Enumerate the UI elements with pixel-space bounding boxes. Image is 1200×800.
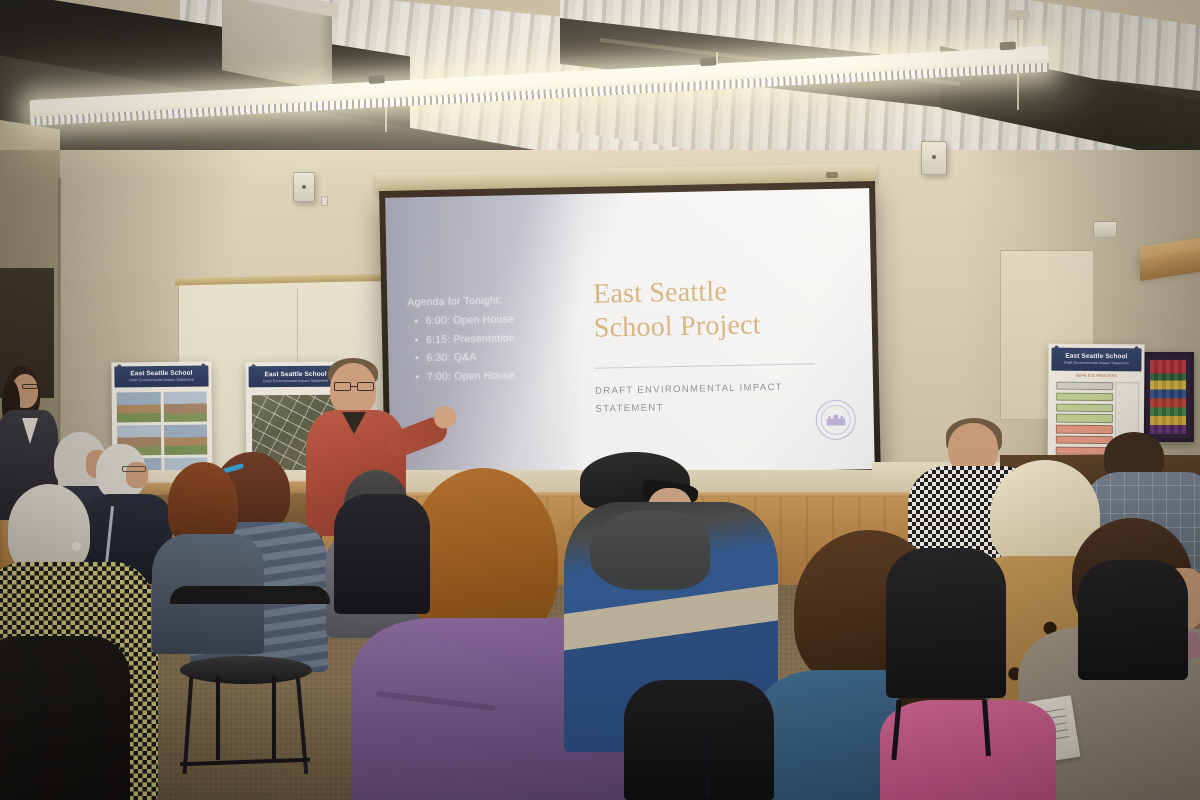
stacking-chair[interactable] xyxy=(170,586,330,604)
meeting-room-photo: Agenda for Tonight: 6:00: Open House 6:1… xyxy=(0,0,1200,800)
wall-speaker-right xyxy=(921,141,947,175)
slide-divider-rule xyxy=(595,364,815,369)
poster-photo xyxy=(117,392,161,423)
flow-step xyxy=(1056,414,1114,423)
quilt-checks xyxy=(1150,360,1186,434)
torso xyxy=(0,636,130,800)
attendee-dark-jacket xyxy=(0,636,120,800)
glasses-icon xyxy=(122,466,146,472)
torso xyxy=(880,700,1056,800)
stacking-chair[interactable] xyxy=(1078,560,1188,680)
stacking-chair[interactable] xyxy=(334,494,430,614)
staff-glasses-icon xyxy=(22,384,38,389)
wall-mounted-box xyxy=(1093,221,1117,238)
seal-crown-glyph xyxy=(826,414,845,425)
poster-photo xyxy=(163,391,207,422)
chair-seat[interactable] xyxy=(180,656,312,684)
light-clip xyxy=(369,75,385,84)
flow-step xyxy=(1056,392,1114,401)
framed-quilt-artwork xyxy=(1142,352,1194,442)
chair-leg xyxy=(216,676,220,760)
projector-screen: Agenda for Tonight: 6:00: Open House 6:1… xyxy=(379,181,881,489)
speaker-dot xyxy=(932,155,936,159)
speaker-dot xyxy=(302,185,306,189)
flow-step xyxy=(1056,403,1114,412)
slide-agenda-item: 7:00: Open House xyxy=(427,364,589,386)
poster-title: East Seattle School xyxy=(1065,353,1127,361)
poster-subtitle: Draft Environmental Impact Statement xyxy=(129,378,194,383)
light-clip xyxy=(1000,41,1016,50)
earring xyxy=(72,542,81,551)
presenter-glasses-icon xyxy=(334,382,374,391)
wall-speaker-left xyxy=(293,172,315,202)
slide-title: East Seattle School Project xyxy=(593,273,846,346)
poster-section-label: SEPA EIS PROCESS xyxy=(1048,373,1144,379)
attendee-red-hair-left xyxy=(158,462,258,632)
screen-pull-knob[interactable] xyxy=(826,172,838,178)
chair-leg xyxy=(272,676,276,762)
poster-header: East Seattle School Draft Environmental … xyxy=(1051,348,1141,371)
poster-subtitle: Draft Environmental Impact Statement xyxy=(1064,361,1129,366)
wall-switch-plate[interactable] xyxy=(321,196,328,206)
light-hanger-plate xyxy=(1008,10,1030,20)
poster-photo xyxy=(163,424,207,455)
stacking-chair[interactable] xyxy=(624,680,774,800)
stacking-chair[interactable] xyxy=(886,548,1006,698)
poster-header: East Seattle School Draft Environmental … xyxy=(114,365,208,387)
hood xyxy=(590,510,710,590)
flow-step xyxy=(1056,381,1114,390)
head xyxy=(8,484,90,574)
light-clip xyxy=(700,57,716,66)
slide-subtitle: DRAFT ENVIRONMENTAL IMPACT STATEMENT xyxy=(595,379,796,418)
poster-title: East Seattle School xyxy=(130,370,192,378)
projected-slide: Agenda for Tonight: 6:00: Open House 6:1… xyxy=(385,188,875,479)
slide-agenda-heading: Agenda for Tonight: xyxy=(407,290,587,312)
chair-leg xyxy=(706,740,711,798)
